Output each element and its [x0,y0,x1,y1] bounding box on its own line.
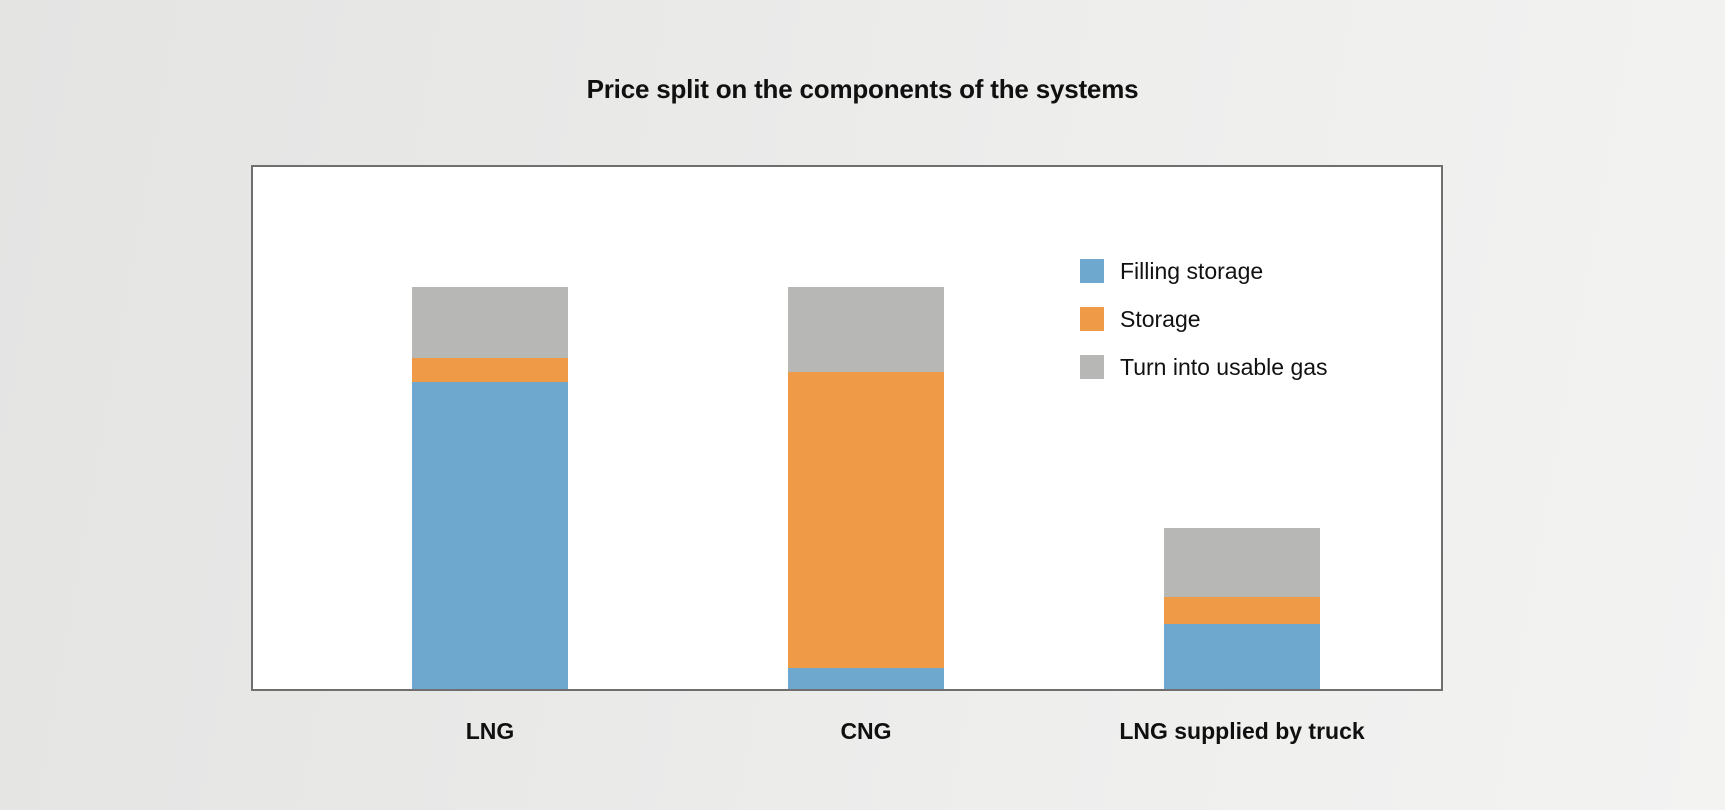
legend-item-turn-into-usable-gas[interactable]: Turn into usable gas [1080,354,1328,380]
x-axis-label-lng-supplied-by-truck: LNG supplied by truck [1119,718,1364,745]
legend-item-storage[interactable]: Storage [1080,306,1328,332]
legend-label-storage: Storage [1120,306,1201,332]
plot-frame [251,165,1443,691]
chart-title: Price split on the components of the sys… [0,74,1725,105]
legend-swatch-turn-into-usable-gas [1080,355,1104,379]
chart-figure: Price split on the components of the sys… [0,0,1725,810]
x-axis-labels: LNG CNG LNG supplied by truck [251,718,1443,752]
legend-swatch-storage [1080,307,1104,331]
legend-label-turn-into-usable-gas: Turn into usable gas [1120,354,1328,380]
chart-legend: Filling storage Storage Turn into usable… [1080,258,1328,380]
x-axis-label-lng: LNG [466,718,515,745]
x-axis-label-cng: CNG [840,718,891,745]
legend-item-filling-storage[interactable]: Filling storage [1080,258,1328,284]
legend-label-filling-storage: Filling storage [1120,258,1263,284]
legend-swatch-filling-storage [1080,259,1104,283]
